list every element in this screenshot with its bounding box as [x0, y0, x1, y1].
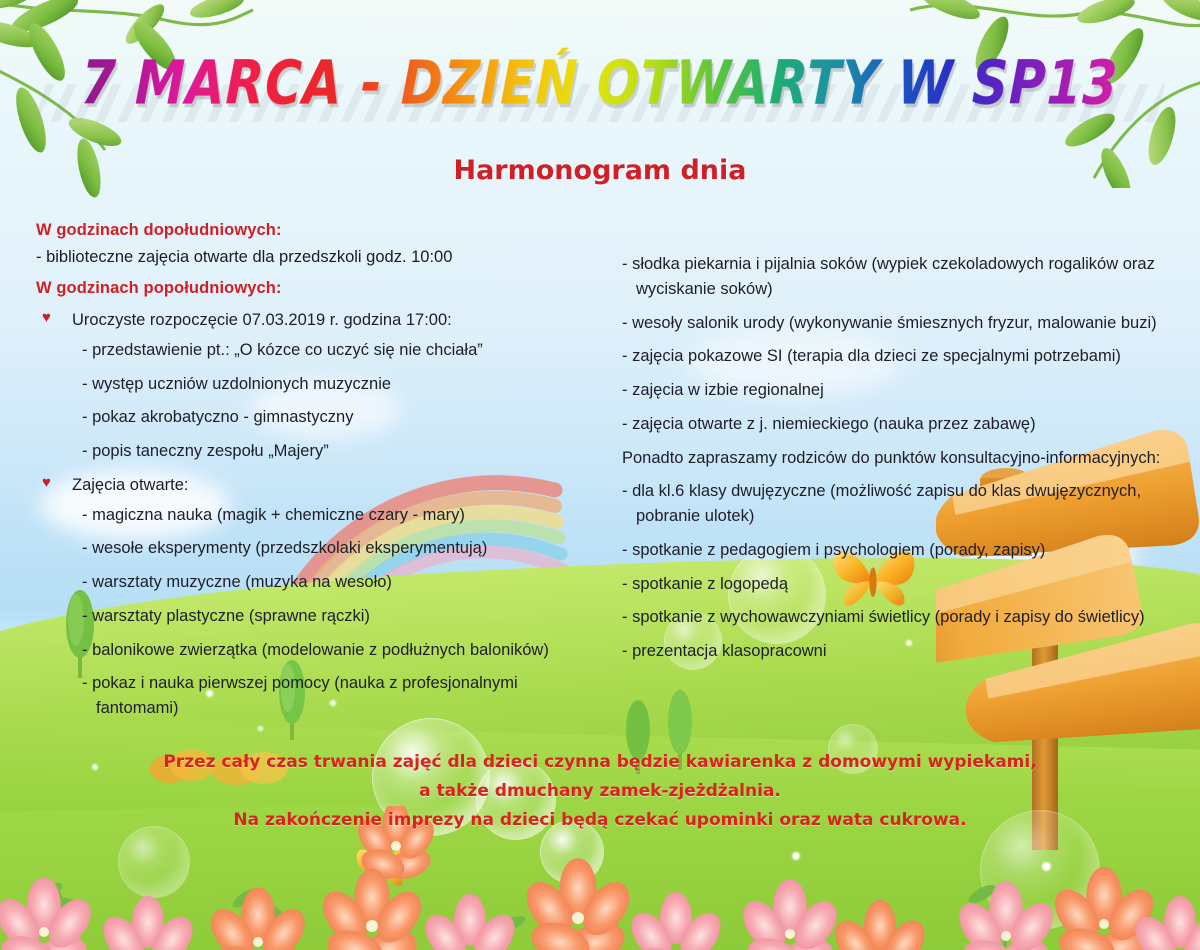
list-item: - zajęcia otwarte z j. niemieckiego (nau… [622, 412, 1182, 437]
afternoon-heading: W godzinach popołudniowych: [36, 276, 596, 302]
list-item: - popis taneczny zespołu „Majery” [36, 439, 596, 464]
list-item: - balonikowe zwierzątka (modelowanie z p… [36, 638, 596, 663]
list-item: - zajęcia w izbie regionalnej [622, 378, 1182, 403]
list-item: - występ uczniów uzdolnionych muzycznie [36, 372, 596, 397]
list-item: - spotkanie z pedagogiem i psychologiem … [622, 538, 1182, 563]
title-area: 7 MARCA - DZIEŃ OTWARTY W SP13 [0, 54, 1200, 112]
list-item: ♥ Uroczyste rozpoczęcie 07.03.2019 r. go… [36, 308, 596, 333]
list-item: - pokaz akrobatyczno - gimnastyczny [36, 405, 596, 430]
list-item: - spotkanie z wychowawczyniami świetlicy… [622, 605, 1182, 630]
list-item: - warsztaty muzyczne (muzyka na wesoło) [36, 570, 596, 595]
list-item: - spotkanie z logopedą [622, 572, 1182, 597]
list-item: - pokaz i nauka pierwszej pomocy (nauka … [36, 671, 596, 721]
footer-line-1: Przez cały czas trwania zajęć dla dzieci… [0, 748, 1200, 777]
list-item: - dla kl.6 klasy dwujęzyczne (możliwość … [622, 479, 1182, 529]
right-column: - słodka piekarnia i pijalnia soków (wyp… [622, 218, 1182, 673]
list-item: - magiczna nauka (magik + chemiczne czar… [36, 503, 596, 528]
list-item: - prezentacja klasopracowni [622, 639, 1182, 664]
heart-bullet-icon: ♥ [36, 308, 72, 328]
morning-item: - biblioteczne zajęcia otwarte dla przed… [36, 245, 596, 270]
poster-canvas: 7 MARCA - DZIEŃ OTWARTY W SP13 Harmonogr… [0, 0, 1200, 950]
list-item: - zajęcia pokazowe SI (terapia dla dziec… [622, 344, 1182, 369]
footer-note: Przez cały czas trwania zajęć dla dzieci… [0, 748, 1200, 836]
bullet-opening-label: Uroczyste rozpoczęcie 07.03.2019 r. godz… [72, 308, 452, 333]
page-subtitle: Harmonogram dnia [0, 155, 1200, 186]
footer-line-3: Na zakończenie imprezy na dzieci będą cz… [0, 806, 1200, 835]
list-item: - warsztaty plastyczne (sprawne rączki) [36, 604, 596, 629]
bullet-open-classes-label: Zajęcia otwarte: [72, 473, 188, 498]
page-title: 7 MARCA - DZIEŃ OTWARTY W SP13 [80, 48, 1119, 119]
list-item: ♥ Zajęcia otwarte: [36, 473, 596, 498]
list-item: - słodka piekarnia i pijalnia soków (wyp… [622, 252, 1182, 302]
list-item: - przedstawienie pt.: „O kózce co uczyć … [36, 338, 596, 363]
consultation-intro: Ponadto zapraszamy rodziców do punktów k… [622, 446, 1182, 471]
footer-line-2: a także dmuchany zamek-zjeżdżalnia. [0, 777, 1200, 806]
left-column: W godzinach dopołudniowych: - bibliotecz… [36, 218, 596, 730]
heart-bullet-icon: ♥ [36, 473, 72, 493]
list-item: - wesołe eksperymenty (przedszkolaki eks… [36, 536, 596, 561]
morning-heading: W godzinach dopołudniowych: [36, 218, 596, 244]
list-item: - wesoły salonik urody (wykonywanie śmie… [622, 311, 1182, 336]
